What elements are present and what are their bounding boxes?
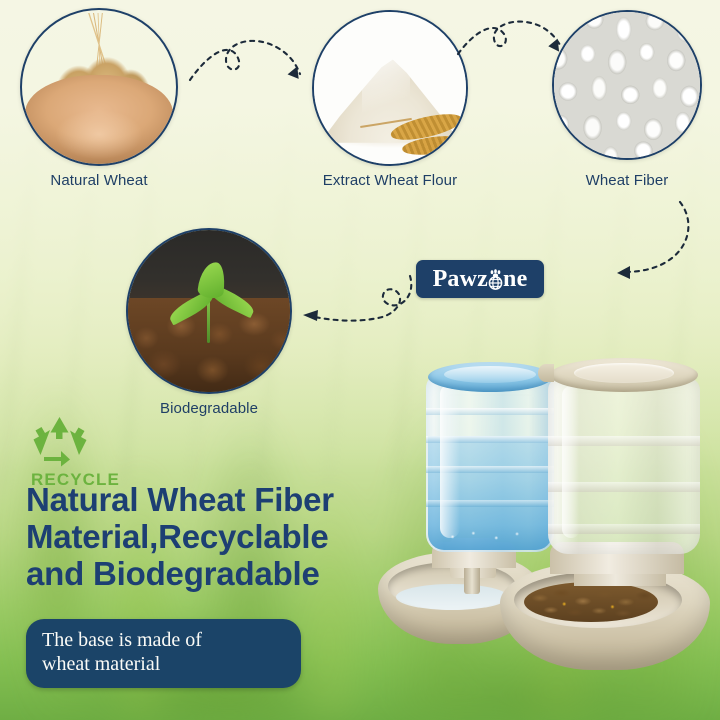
step-label-natural-wheat: Natural Wheat (20, 172, 178, 189)
logo-text-prefix: Pawz (433, 266, 488, 293)
step-label-extract-wheat-flour: Extract Wheat Flour (300, 172, 480, 189)
arrow-logo-to-biodegradable (292, 266, 422, 336)
step-image-natural-wheat (20, 8, 178, 166)
step-image-wheat-fiber (552, 10, 702, 160)
hands-holding-wheat-photo (22, 10, 176, 164)
product-photo (378, 356, 720, 720)
pawzone-logo: Pawz ne (416, 260, 544, 298)
infographic-canvas: Natural Wheat Extract Wheat Flour Wheat … (0, 0, 720, 720)
caption-pill: The base is made of wheat material (26, 619, 301, 688)
wheat-flour-pile-photo (314, 12, 466, 164)
step-label-biodegradable: Biodegradable (126, 400, 292, 417)
white-wheat-fiber-pellets-photo (554, 12, 700, 158)
arrow-natural-wheat-to-flour (182, 24, 312, 104)
recycle-arrows-icon (30, 415, 90, 467)
step-image-biodegradable (126, 228, 292, 394)
step-image-extract-wheat-flour (312, 10, 468, 166)
pawzone-logo-text: Pawz ne (433, 266, 528, 293)
globe-paw-icon (487, 269, 504, 290)
water-tank (426, 374, 554, 552)
caption-line-1: The base is made of (42, 628, 285, 652)
logo-text-suffix: ne (503, 266, 527, 293)
water-in-bowl (396, 584, 508, 610)
step-label-wheat-fiber: Wheat Fiber (552, 172, 702, 189)
kibble-in-bowl (524, 582, 658, 622)
seedling-in-soil-photo (128, 230, 290, 392)
recycle-badge: RECYCLE (30, 415, 122, 490)
caption-line-2: wheat material (42, 652, 285, 676)
food-hopper (548, 378, 700, 554)
arrow-flour-to-wheat-fiber (452, 12, 572, 92)
water-spout-outlet (464, 568, 480, 594)
arrow-wheat-fiber-to-logo (586, 196, 706, 296)
food-lid-tab (538, 364, 554, 382)
